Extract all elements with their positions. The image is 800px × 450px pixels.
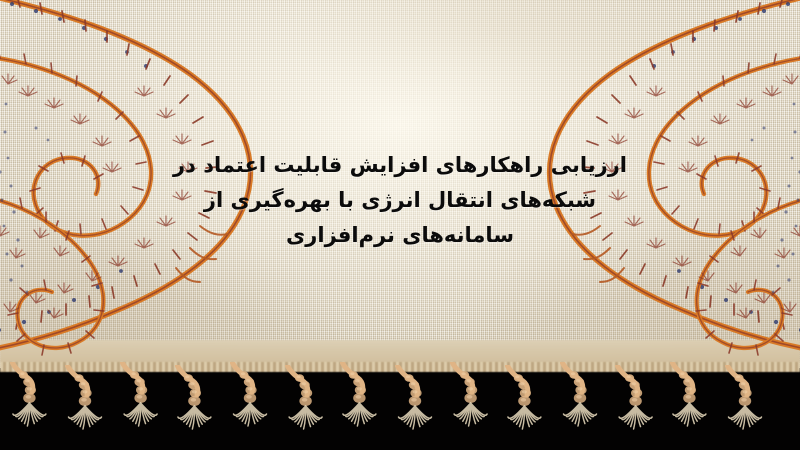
tassel [10, 362, 50, 442]
tassel [175, 365, 215, 445]
title-line-1: ارزیابی راهکارهای افزایش قابلیت اعتماد د… [0, 148, 800, 183]
title-line-3: سامانه‌های نرم‌افزاری [0, 218, 800, 253]
tassel [505, 365, 545, 445]
page-title: ارزیابی راهکارهای افزایش قابلیت اعتماد د… [0, 148, 800, 253]
tassel-fringe [0, 362, 800, 450]
title-line-2: شبکه‌های انتقال انرژی با بهره‌گیری از [0, 183, 800, 218]
tassel [725, 365, 765, 445]
tassel [230, 362, 270, 442]
tassel [340, 362, 380, 442]
tassel [395, 365, 435, 445]
tassel [65, 365, 105, 445]
tassel [560, 362, 600, 442]
tassel [670, 362, 710, 442]
tassel [450, 362, 490, 442]
title-card-image: ارزیابی راهکارهای افزایش قابلیت اعتماد د… [0, 0, 800, 450]
tassel [285, 365, 325, 445]
tassel [120, 362, 160, 442]
tassel [615, 365, 655, 445]
